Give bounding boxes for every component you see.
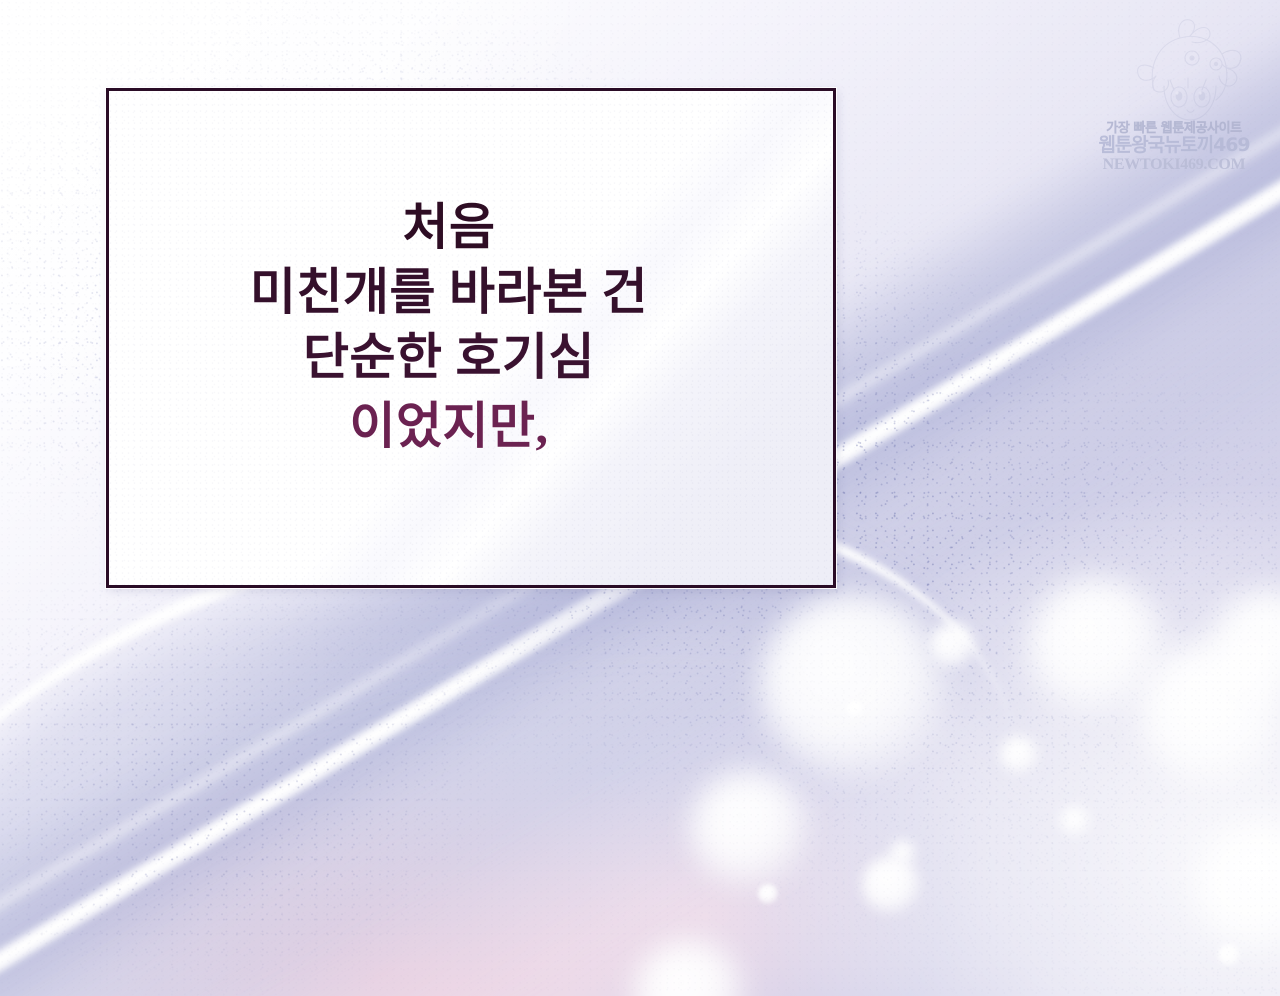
bokeh-orb [760,592,946,778]
dialogue-line-4: 이었지만, [109,394,789,459]
bokeh-orb [846,700,864,718]
watermark-text-group: 가장 빠른 웹툰제공사이트 웹툰왕국뉴토끼469 NEWTOKI469.COM [1094,122,1254,173]
watermark-line-2: 웹툰왕국뉴토끼469 [1094,136,1254,155]
bokeh-orb [690,770,808,888]
dialogue-line-3: 단순한 호기심 [109,325,789,390]
bokeh-orb [758,884,778,904]
dialogue-line-2: 미친개를 바라본 건 [109,260,789,325]
dialogue-text-block: 처음 미친개를 바라본 건 단순한 호기심 이었지만, [109,195,833,459]
chibi-mascot-icon [1130,14,1248,134]
bokeh-orb [1196,826,1280,954]
dialogue-line-1: 처음 [109,195,789,260]
comic-panel: 처음 미친개를 바라본 건 단순한 호기심 이었지만, [106,88,836,588]
bokeh-orb [1060,806,1090,836]
bokeh-orb [862,856,920,914]
watermark-line-1: 가장 빠른 웹툰제공사이트 [1094,122,1254,135]
bokeh-orb [1000,736,1038,774]
webtoon-page: 처음 미친개를 바라본 건 단순한 호기심 이었지만, [0,0,1280,996]
bokeh-orb [1218,944,1240,966]
bokeh-orb [930,622,976,668]
watermark-line-3: NEWTOKI469.COM [1094,157,1254,173]
